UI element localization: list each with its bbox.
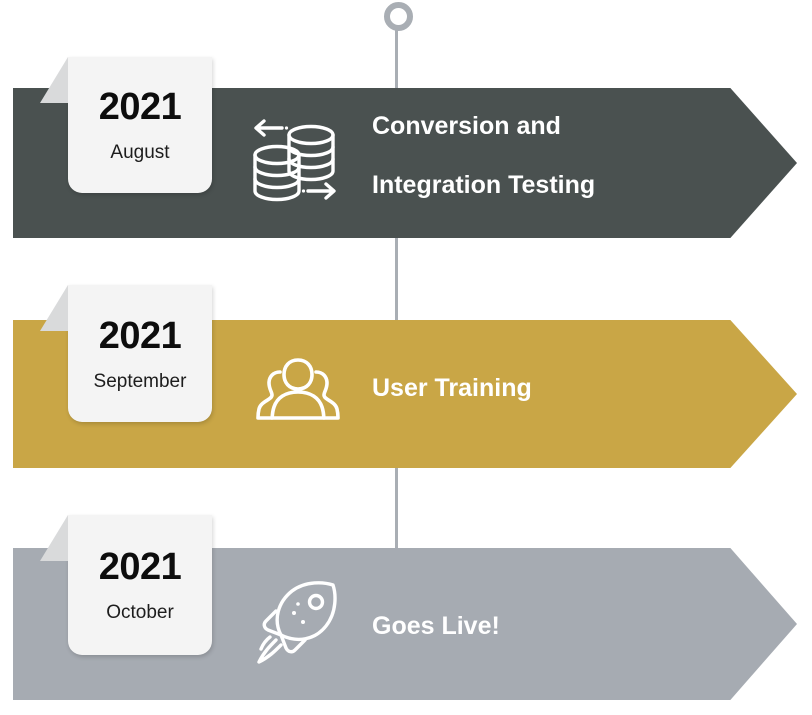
timeline-label-1: Conversion and Integration Testing (372, 114, 712, 198)
card-fold-corner-icon (40, 515, 68, 561)
ring-marker-icon (384, 2, 413, 31)
database-transfer-icon (246, 113, 342, 205)
date-card-september[interactable]: 2021 September (68, 285, 212, 422)
card-month: October (106, 603, 174, 622)
card-year: 2021 (99, 548, 182, 586)
card-month: August (110, 143, 169, 162)
rocket-icon (248, 580, 348, 668)
users-group-icon (255, 352, 341, 436)
card-year: 2021 (99, 317, 182, 355)
timeline-infographic: Conversion and Integration Testing 2021 … (0, 0, 812, 715)
date-card-october[interactable]: 2021 October (68, 515, 212, 655)
timeline-label-2: User Training (372, 376, 532, 401)
timeline-label-1-line1: Conversion and (372, 112, 561, 140)
timeline-label-3: Goes Live! (372, 614, 500, 639)
card-month: September (94, 372, 187, 391)
date-card-august[interactable]: 2021 August (68, 57, 212, 193)
card-fold-corner-icon (40, 57, 68, 103)
card-year: 2021 (99, 88, 182, 126)
timeline-label-1-line2: Integration Testing (372, 173, 712, 198)
card-fold-corner-icon (40, 285, 68, 331)
